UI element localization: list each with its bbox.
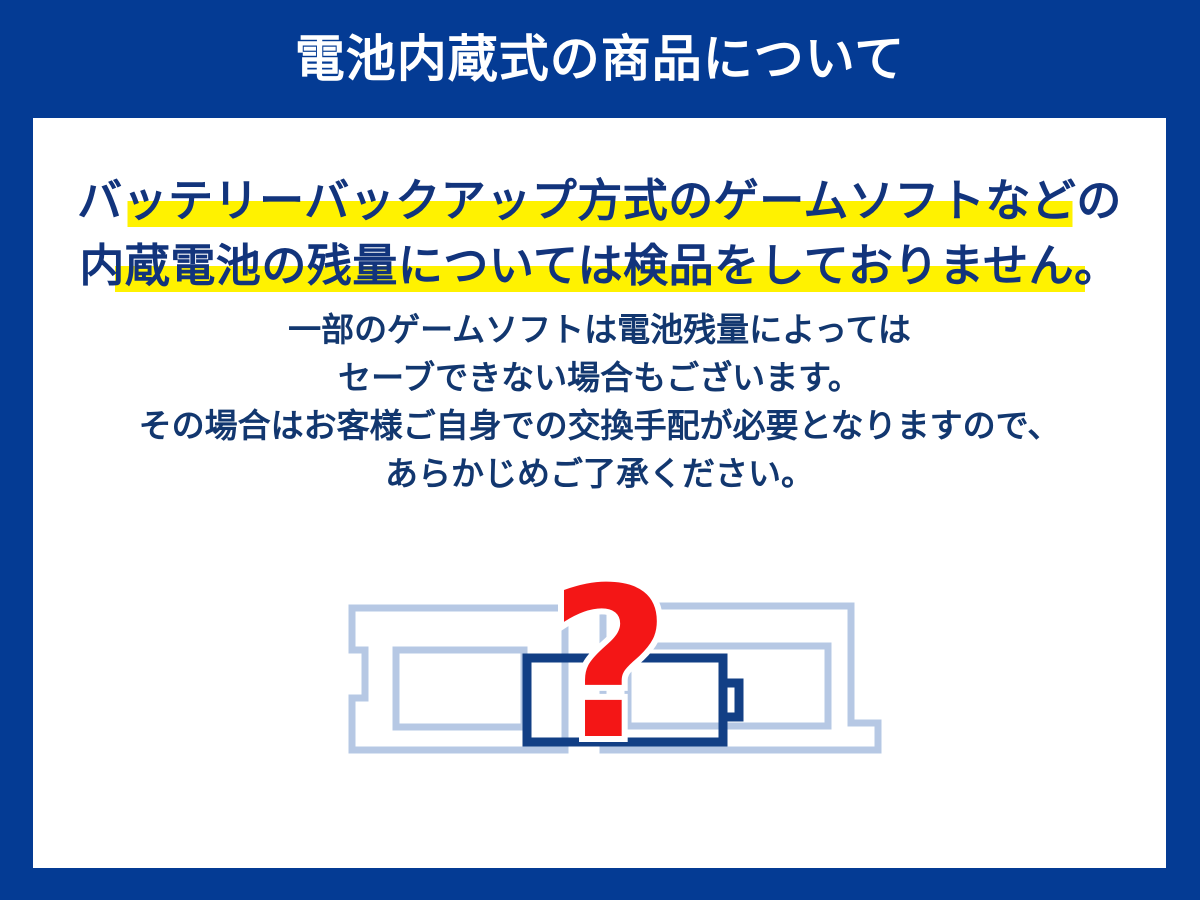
body-paragraph: 一部のゲームソフトは電池残量によっては セーブできない場合もございます。 その場… xyxy=(33,306,1166,498)
headline-line-2: 内蔵電池の残量については検品をしておりません。 xyxy=(33,233,1166,298)
body-line-2: セーブできない場合もございます。 xyxy=(33,354,1166,402)
headline-text-2: 内蔵電池の残量については検品をしておりません。 xyxy=(79,239,1119,292)
headline-block: バッテリーバックアップ方式のゲームソフトなどの 内蔵電池の残量については検品をし… xyxy=(33,168,1166,298)
page-title: 電池内蔵式の商品について xyxy=(295,34,906,84)
svg-text:?: ? xyxy=(550,558,671,786)
body-line-1: 一部のゲームソフトは電池残量によっては xyxy=(33,306,1166,354)
body-line-4: あらかじめご了承ください。 xyxy=(33,450,1166,498)
title-bar: 電池内蔵式の商品について xyxy=(0,0,1200,118)
headline-line-1: バッテリーバックアップ方式のゲームソフトなどの xyxy=(33,168,1166,233)
slide-root: 電池内蔵式の商品について バッテリーバックアップ方式のゲームソフトなどの 内蔵電… xyxy=(0,0,1200,900)
body-line-3: その場合はお客様ご自身での交換手配が必要となりますので、 xyxy=(33,402,1166,450)
battery-illustration: ? xyxy=(303,558,913,788)
question-mark-icon: ? xyxy=(550,558,671,786)
game-cartridge-left-icon xyxy=(352,608,565,750)
content-panel: バッテリーバックアップ方式のゲームソフトなどの 内蔵電池の残量については検品をし… xyxy=(33,118,1166,868)
headline-text-1: バッテリーバックアップ方式のゲームソフトなどの xyxy=(77,174,1122,227)
